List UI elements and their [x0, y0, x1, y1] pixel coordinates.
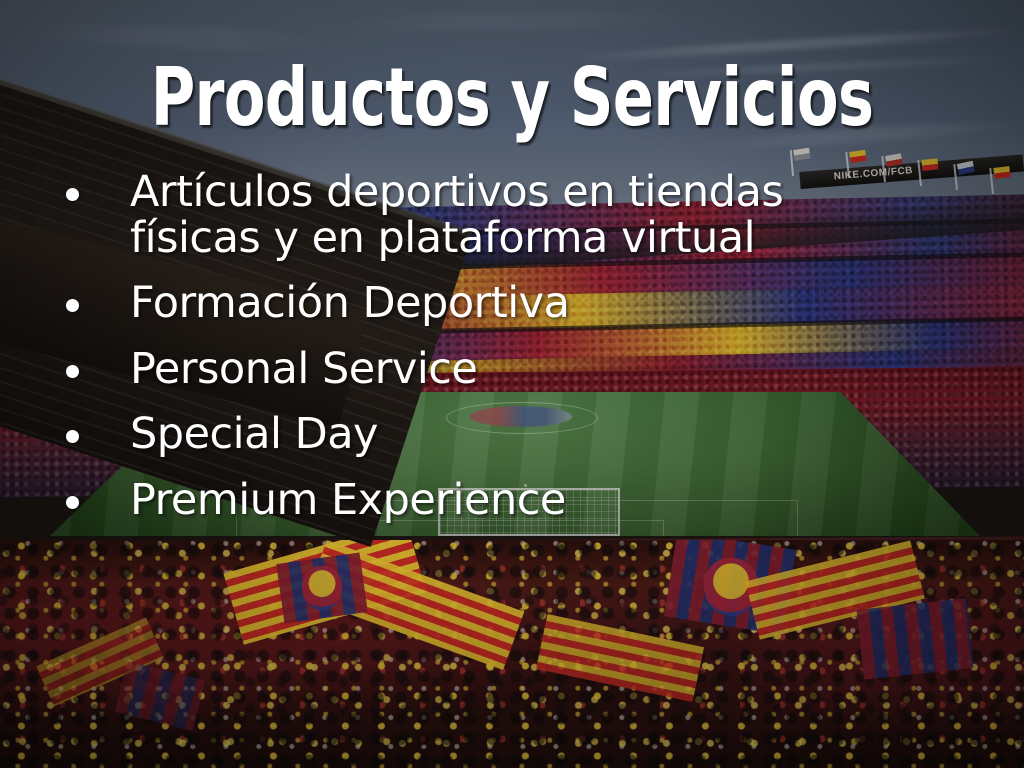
slide-title: Productos y Servicios [123, 58, 901, 138]
list-item-label: Formación Deportiva [130, 281, 920, 327]
list-item: Formación Deportiva [58, 281, 994, 327]
list-item: Premium Experience [58, 478, 994, 524]
bullet-list: Artículos deportivos en tiendas físicas … [58, 170, 994, 543]
bullet-dot-icon [66, 430, 79, 443]
list-item: Personal Service [58, 347, 994, 393]
bullet-dot-icon [66, 188, 79, 201]
bullet-dot-icon [66, 496, 79, 509]
bullet-dot-icon [66, 365, 79, 378]
presentation-slide: NIKE.COM/FCB [0, 0, 1024, 768]
list-item: Artículos deportivos en tiendas físicas … [58, 170, 994, 261]
list-item-label: Personal Service [130, 347, 920, 393]
bullet-dot-icon [66, 299, 79, 312]
list-item-label: Special Day [130, 412, 920, 458]
list-item-label: Artículos deportivos en tiendas físicas … [130, 170, 920, 261]
list-item: Special Day [58, 412, 994, 458]
list-item-label: Premium Experience [130, 478, 920, 524]
slide-content: Productos y Servicios Artículos deportiv… [0, 0, 1024, 768]
